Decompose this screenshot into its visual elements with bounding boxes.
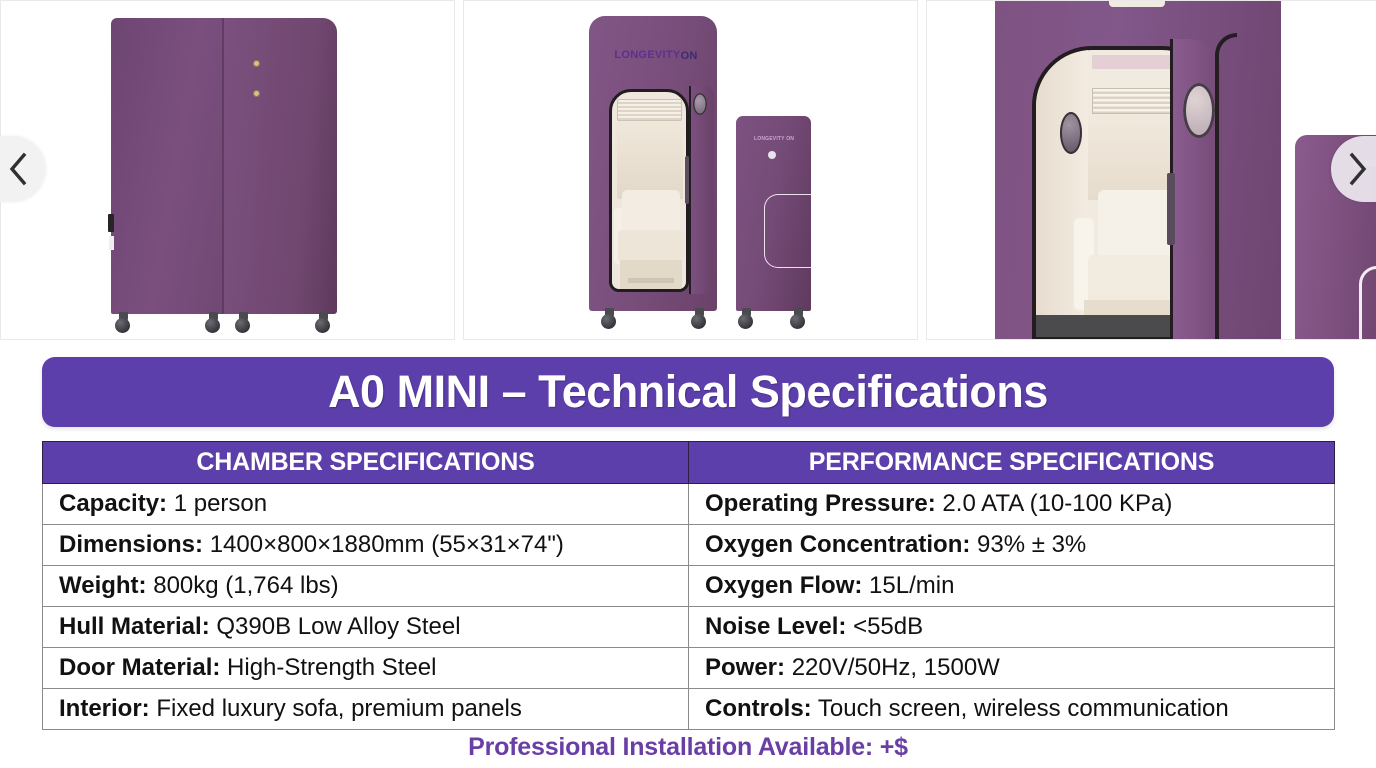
caster-wheel (115, 318, 130, 333)
spec-value: 93% ± 3% (977, 531, 1086, 558)
table-row: Weight: 800kg (1,764 lbs) Oxygen Flow: 1… (43, 566, 1335, 607)
spec-value: 220V/50Hz, 1500W (792, 654, 1000, 681)
caster-wheel (205, 318, 220, 333)
caster-wheel (315, 318, 330, 333)
spec-key: Power: (705, 654, 785, 681)
carousel-slide-3[interactable]: LONGEVITY (926, 0, 1376, 340)
porthole-window-icon (693, 93, 707, 115)
sofa-base (620, 260, 682, 290)
performance-spec-cell: Power: 220V/50Hz, 1500W (689, 648, 1335, 689)
spec-key: Oxygen Concentration: (705, 531, 970, 558)
floor-plate (628, 278, 674, 283)
spec-key: Weight: (59, 572, 147, 599)
chamber-panel-left (111, 18, 223, 314)
page-title: A0 MINI – Technical Specifications (328, 366, 1048, 418)
table-row: Dimensions: 1400×800×1880mm (55×31×74") … (43, 525, 1335, 566)
interior-back-wall (1088, 115, 1178, 200)
door-handle (685, 156, 689, 204)
caster-wheel (790, 314, 805, 329)
performance-spec-cell: Oxygen Concentration: 93% ± 3% (689, 525, 1335, 566)
sofa-backrest (1098, 190, 1176, 260)
oxygen-concentrator-illustration: LONGEVITY ON (736, 116, 811, 311)
spec-value: 15L/min (869, 572, 954, 599)
chamber-spec-cell: Dimensions: 1400×800×1880mm (55×31×74") (43, 525, 689, 566)
chamber-spec-cell: Door Material: High-Strength Steel (43, 648, 689, 689)
spec-key: Capacity: (59, 490, 167, 517)
chamber-interior-closeup-illustration: LONGEVITY (927, 1, 1376, 339)
carousel-slide-2[interactable]: LONGEVITYON LONGEVITY ON (463, 0, 918, 340)
chevron-right-icon (1347, 152, 1369, 186)
caster-wheel (738, 314, 753, 329)
table-row: Interior: Fixed luxury sofa, premium pan… (43, 689, 1335, 730)
chamber-spec-cell: Interior: Fixed luxury sofa, premium pan… (43, 689, 689, 730)
concentrator-panel-outline (764, 194, 812, 268)
spec-value: Fixed luxury sofa, premium panels (156, 695, 521, 722)
spec-value: Touch screen, wireless communication (818, 695, 1229, 722)
air-vent-grille (1092, 88, 1178, 114)
spec-value: 800kg (1,764 lbs) (153, 572, 338, 599)
brand-wordmark: LONGEVITY (614, 49, 680, 61)
spec-key: Operating Pressure: (705, 490, 936, 517)
chamber-brand-logo: LONGEVITYON (606, 49, 706, 61)
interior-ceiling-trim (1092, 55, 1174, 69)
spec-value: 1 person (174, 490, 267, 517)
spec-key: Controls: (705, 695, 812, 722)
spec-value: 2.0 ATA (10-100 KPa) (942, 490, 1172, 517)
chamber-closed-rear-illustration (111, 14, 337, 314)
spec-key: Oxygen Flow: (705, 572, 862, 599)
table-row: Door Material: High-Strength Steel Power… (43, 648, 1335, 689)
door-frame-outline (1215, 33, 1237, 339)
performance-spec-cell: Oxygen Flow: 15L/min (689, 566, 1335, 607)
chevron-left-icon (7, 152, 29, 186)
spec-key: Interior: (59, 695, 150, 722)
chamber-top-detail (1109, 1, 1165, 7)
caster-wheel (601, 314, 616, 329)
caster-wheel (235, 318, 250, 333)
table-row: Capacity: 1 person Operating Pressure: 2… (43, 484, 1335, 525)
porthole-window-icon (1060, 112, 1082, 154)
installation-note: Professional Installation Available: +$ (0, 733, 1376, 762)
specifications-title-banner: A0 MINI – Technical Specifications (42, 357, 1334, 427)
performance-spec-cell: Operating Pressure: 2.0 ATA (10-100 KPa) (689, 484, 1335, 525)
sofa-seat (618, 230, 684, 262)
spec-value: High-Strength Steel (227, 654, 436, 681)
product-image-carousel[interactable]: LONGEVITYON LONGEVITY ON (0, 0, 1376, 341)
concentrator-brand-logo: LONGEVITY ON (754, 136, 794, 142)
performance-spec-cell: Noise Level: <55dB (689, 607, 1335, 648)
chamber-panel-right (222, 18, 337, 314)
spec-key: Noise Level: (705, 613, 846, 640)
adjacent-unit-panel-outline (1359, 266, 1376, 339)
chamber-seam (222, 18, 224, 314)
air-vent-grille (617, 99, 682, 121)
chamber-interior-view (609, 89, 689, 292)
door-handle (1167, 173, 1175, 245)
performance-spec-cell: Controls: Touch screen, wireless communi… (689, 689, 1335, 730)
spec-key: Dimensions: (59, 531, 203, 558)
column-header-performance: PERFORMANCE SPECIFICATIONS (689, 442, 1335, 484)
power-indicator-icon (768, 151, 776, 159)
chamber-spec-cell: Capacity: 1 person (43, 484, 689, 525)
spec-key: Hull Material: (59, 613, 210, 640)
chamber-latch (108, 214, 114, 232)
spec-key: Door Material: (59, 654, 220, 681)
column-header-chamber: CHAMBER SPECIFICATIONS (43, 442, 689, 484)
table-row: Hull Material: Q390B Low Alloy Steel Noi… (43, 607, 1335, 648)
chamber-door-panel (689, 86, 714, 294)
table-header-row: CHAMBER SPECIFICATIONS PERFORMANCE SPECI… (43, 442, 1335, 484)
carousel-slide-1[interactable] (0, 0, 455, 340)
chamber-spec-cell: Hull Material: Q390B Low Alloy Steel (43, 607, 689, 648)
chamber-knob-lower-icon (253, 90, 260, 97)
door-porthole-window-icon (1183, 83, 1215, 138)
spec-value: Q390B Low Alloy Steel (216, 613, 460, 640)
brand-mark-icon: ON (681, 50, 698, 62)
chamber-open-door-illustration: LONGEVITYON (589, 16, 717, 311)
caster-wheel (691, 314, 706, 329)
spec-value: <55dB (853, 613, 923, 640)
technical-specifications-table: CHAMBER SPECIFICATIONS PERFORMANCE SPECI… (42, 441, 1335, 730)
chamber-spec-cell: Weight: 800kg (1,764 lbs) (43, 566, 689, 607)
chamber-latch-plate (109, 236, 114, 250)
interior-back-wall (617, 123, 683, 199)
spec-value: 1400×800×1880mm (55×31×74") (210, 531, 564, 558)
chamber-knob-upper-icon (253, 60, 260, 67)
